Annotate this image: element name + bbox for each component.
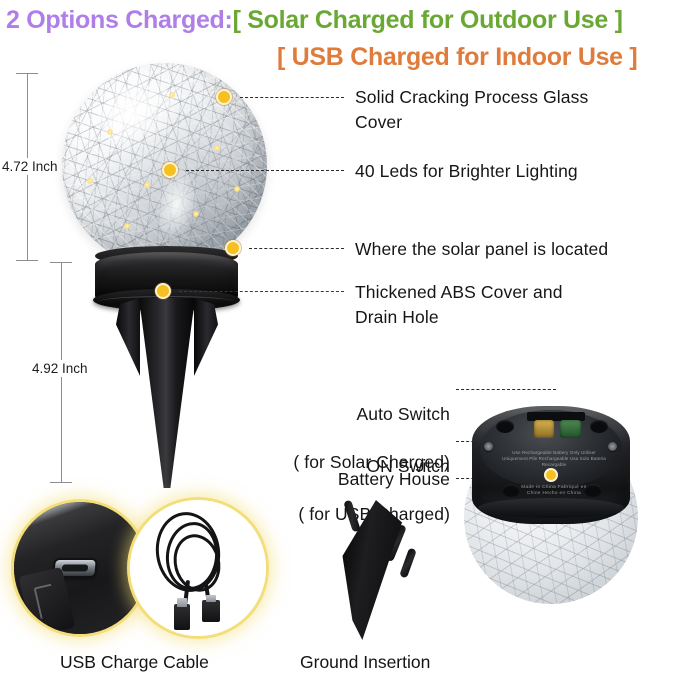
usb-micro-plug-tip: [206, 595, 216, 602]
callout-glass-cover: Solid Cracking Process Glass Cover: [355, 85, 675, 135]
base-photo-warning-text: Use Rechargeable Battery Only Utiliser U…: [502, 450, 606, 469]
header-bracket-orange: [ USB Charged for Indoor Use ]: [277, 43, 637, 72]
callout-solar-panel: Where the solar panel is located: [355, 237, 675, 262]
inset-usb-port-closeup: [14, 502, 146, 634]
base-photo-screw: [484, 442, 493, 451]
led-point: [87, 178, 93, 184]
callout-battery-house: Battery House: [200, 467, 450, 492]
base-photo-hole: [590, 420, 608, 433]
led-point: [107, 129, 113, 135]
leader-line-auto-switch: [456, 389, 556, 390]
leader-line-solar-panel: [249, 248, 344, 249]
usb-a-plug-tip: [177, 598, 187, 607]
dimension-cap-bottom-2: [50, 482, 72, 483]
dimension-cap-bottom-1: [16, 260, 38, 261]
usb-rubber-flap: [18, 566, 75, 634]
base-photo-hole: [496, 420, 514, 433]
caption-usb-charge-cable: USB Charge Cable: [60, 652, 209, 673]
callout-leds: 40 Leds for Brighter Lighting: [355, 159, 675, 184]
on-switch-control[interactable]: [560, 420, 581, 438]
marker-dot-abs-cover: [155, 283, 171, 299]
dimension-label-2: 4.92 Inch: [29, 360, 91, 377]
led-point: [193, 211, 199, 217]
led-point: [169, 92, 175, 98]
product-ground-stake: [139, 298, 195, 488]
marker-dot-glass-cover: [216, 89, 232, 105]
callout-abs-cover: Thickened ABS Cover and Drain Hole: [355, 280, 675, 330]
auto-switch-control[interactable]: [534, 420, 554, 438]
led-point: [144, 182, 150, 188]
header-line-1: 2 Options Charged:[ Solar Charged for Ou…: [6, 6, 623, 35]
dimension-label-1: 4.72 Inch: [0, 158, 61, 175]
base-photo-origin-text: Made in China Fabriqué en Chine Hecho en…: [514, 484, 594, 496]
stake-fin-right: [194, 298, 218, 376]
base-photo-screw: [608, 442, 617, 451]
leader-line-leds: [186, 170, 344, 171]
usb-cable-photo: [130, 500, 266, 636]
stake-fin-left: [116, 298, 140, 376]
inset-usb-cable: [130, 500, 266, 636]
infographic-canvas: 2 Options Charged:[ Solar Charged for Ou…: [0, 0, 679, 678]
usb-symbol-icon: [33, 583, 58, 618]
base-photo-cap: Use Rechargeable Battery Only Utiliser U…: [472, 406, 630, 524]
caption-ground-insertion: Ground Insertion: [300, 652, 430, 673]
led-point: [214, 145, 220, 151]
led-point: [124, 223, 130, 229]
marker-dot-solar-panel: [225, 240, 241, 256]
header-title-purple: 2 Options Charged:: [6, 6, 233, 34]
ground-insertion-fin: [399, 548, 417, 579]
marker-dot-leds: [162, 162, 178, 178]
base-photo-ridge: [478, 498, 624, 518]
header-bracket-green: [ Solar Charged for Outdoor Use ]: [233, 6, 623, 34]
leader-line-glass-cover: [240, 97, 344, 98]
usb-port-photo: [14, 502, 146, 634]
leader-line-abs-cover: [179, 291, 344, 292]
usb-micro-plug: [202, 600, 220, 622]
usb-port-opening: [61, 565, 88, 572]
marker-dot-battery-house: [544, 468, 558, 482]
usb-a-plug: [174, 604, 190, 630]
callout-auto-switch-line1: Auto Switch: [200, 402, 450, 426]
